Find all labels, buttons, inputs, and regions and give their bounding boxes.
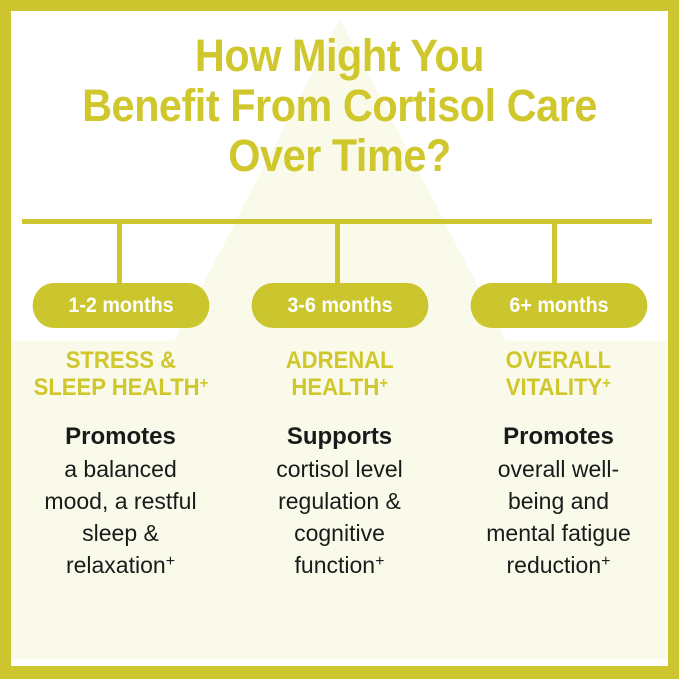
title-line-2: Benefit From Cortisol Care	[37, 81, 641, 131]
benefit-heading-3-text: OVERALL VITALITY	[506, 347, 611, 401]
benefit-body-2-superscript: +	[375, 553, 384, 570]
benefit-heading-3-superscript: +	[602, 375, 611, 392]
benefit-heading-1-superscript: +	[199, 375, 208, 392]
benefit-heading-2: ADRENAL HEALTH+	[286, 347, 394, 401]
timeline-horizontal-rule	[22, 219, 652, 224]
timeline-drop-line-2	[335, 219, 340, 285]
benefit-body-2: Supports cortisol level regulation & cog…	[276, 421, 403, 581]
timeframe-pill-3[interactable]: 6+ months	[470, 283, 647, 328]
benefit-body-3: Promotes overall well- being and mental …	[486, 421, 630, 581]
benefit-heading-1: STRESS & SLEEP HEALTH+	[33, 347, 208, 401]
benefit-column-2: 3-6 months ADRENAL HEALTH+ Supports cort…	[230, 283, 449, 581]
benefit-body-1: Promotes a balanced mood, a restful slee…	[44, 421, 196, 581]
infographic-canvas: How Might You Benefit From Cortisol Care…	[11, 11, 668, 666]
benefit-body-1-superscript: +	[166, 553, 175, 570]
infographic-card: How Might You Benefit From Cortisol Care…	[0, 0, 679, 679]
page-title: How Might You Benefit From Cortisol Care…	[11, 31, 668, 181]
timeline-drop-line-1	[117, 219, 122, 285]
title-line-1: How Might You	[37, 31, 641, 81]
title-line-3: Over Time?	[37, 131, 641, 181]
timeline-drop-line-3	[552, 219, 557, 285]
benefit-body-1-rest: a balanced mood, a restful sleep & relax…	[44, 453, 196, 581]
benefit-column-3: 6+ months OVERALL VITALITY+ Promotes ove…	[449, 283, 668, 581]
timeframe-pill-2[interactable]: 3-6 months	[251, 283, 428, 328]
timeframe-pill-1[interactable]: 1-2 months	[32, 283, 209, 328]
benefit-heading-1-text: STRESS & SLEEP HEALTH	[33, 347, 199, 401]
benefit-heading-2-text: ADRENAL HEALTH	[286, 347, 394, 401]
benefit-heading-2-superscript: +	[379, 375, 388, 392]
benefit-body-3-rest: overall well- being and mental fatigue r…	[486, 453, 630, 581]
benefit-heading-3: OVERALL VITALITY+	[506, 347, 611, 401]
benefit-column-1: 1-2 months STRESS & SLEEP HEALTH+ Promot…	[11, 283, 230, 581]
benefit-body-3-superscript: +	[601, 553, 610, 570]
benefit-columns: 1-2 months STRESS & SLEEP HEALTH+ Promot…	[11, 283, 668, 581]
benefit-body-1-lead: Promotes	[44, 421, 196, 453]
benefit-body-2-rest: cortisol level regulation & cognitive fu…	[276, 453, 403, 581]
benefit-body-3-lead: Promotes	[486, 421, 630, 453]
benefit-body-2-lead: Supports	[276, 421, 403, 453]
